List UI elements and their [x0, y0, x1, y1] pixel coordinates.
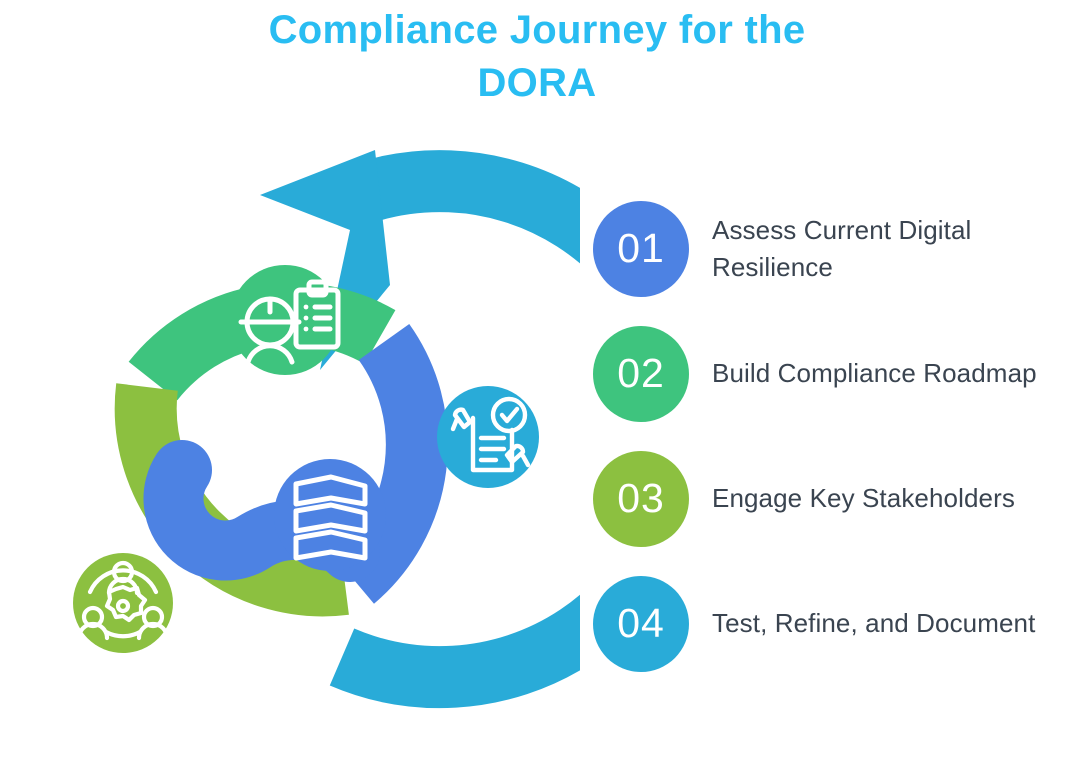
step-number-badge-04: 04	[593, 576, 689, 672]
step-number-02: 02	[617, 350, 665, 397]
legend-item-01[interactable]: 01 Assess Current Digital Resilience	[593, 186, 1043, 311]
steps-legend: 01 Assess Current Digital Resilience 02 …	[593, 186, 1043, 686]
step-label-04: Test, Refine, and Document	[712, 605, 1035, 642]
step-number-03: 03	[617, 475, 665, 522]
step-number-badge-03: 03	[593, 451, 689, 547]
page-title: Compliance Journey for the DORA	[237, 4, 837, 110]
step-number-04: 04	[617, 600, 665, 647]
step-number-badge-02: 02	[593, 326, 689, 422]
page-title-line-1: Compliance Journey for the	[237, 4, 837, 57]
step-number-01: 01	[617, 225, 665, 272]
step-label-01: Assess Current Digital Resilience	[712, 212, 1043, 286]
document-check-hands-icon[interactable]	[437, 386, 539, 488]
page-title-line-2: DORA	[237, 57, 837, 110]
legend-item-02[interactable]: 02 Build Compliance Roadmap	[593, 311, 1043, 436]
step-label-02: Build Compliance Roadmap	[712, 355, 1037, 392]
inspector-clipboard-icon[interactable]	[230, 265, 340, 375]
legend-item-04[interactable]: 04 Test, Refine, and Document	[593, 561, 1043, 686]
legend-item-03[interactable]: 03 Engage Key Stakeholders	[593, 436, 1043, 561]
team-gear-icon[interactable]	[73, 553, 173, 653]
layers-stack-icon[interactable]	[274, 459, 386, 571]
step-label-03: Engage Key Stakeholders	[712, 480, 1015, 517]
compliance-cycle-diagram	[20, 140, 580, 720]
step-number-badge-01: 01	[593, 201, 689, 297]
